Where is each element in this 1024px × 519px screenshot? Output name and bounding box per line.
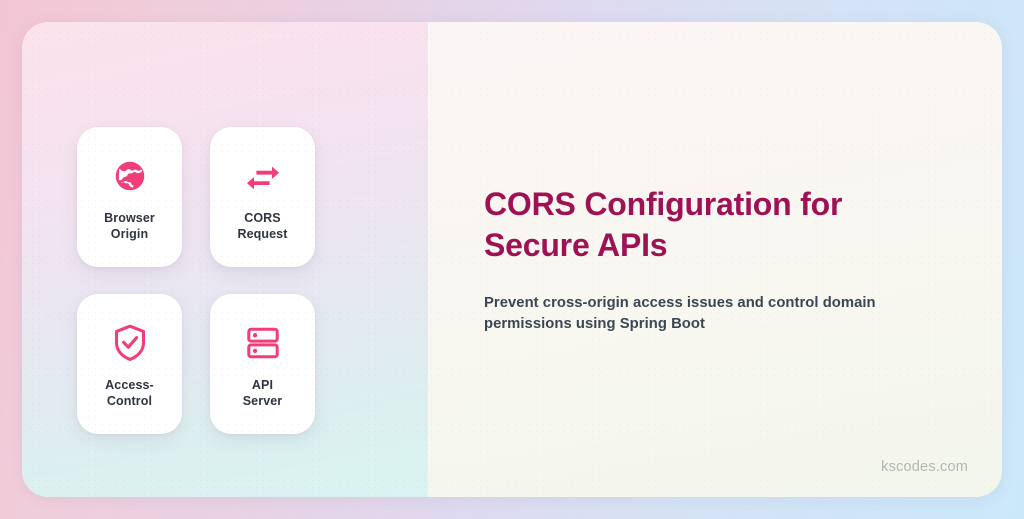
left-panel: Browser Origin CORS Request: [22, 22, 428, 497]
icon-card-label: API Server: [243, 377, 283, 410]
icon-card-label: CORS Request: [237, 210, 287, 243]
icon-card-browser-origin[interactable]: Browser Origin: [77, 127, 182, 267]
slide-frame: Browser Origin CORS Request: [0, 0, 1024, 519]
page-title: CORS Configuration for Secure APIs: [484, 184, 946, 265]
server-icon: [243, 323, 283, 363]
content-card: Browser Origin CORS Request: [22, 22, 1002, 497]
globe-icon: [110, 156, 150, 196]
icon-card-cors-request[interactable]: CORS Request: [210, 127, 315, 267]
shield-check-icon: [110, 323, 150, 363]
right-panel: CORS Configuration for Secure APIs Preve…: [428, 22, 1002, 497]
icon-card-label: Browser Origin: [104, 210, 155, 243]
icon-card-grid: Browser Origin CORS Request: [77, 127, 315, 434]
page-subtitle: Prevent cross-origin access issues and c…: [484, 293, 936, 335]
exchange-arrows-icon: [243, 156, 283, 196]
icon-card-label: Access- Control: [105, 377, 154, 410]
watermark-label: kscodes.com: [881, 459, 968, 475]
icon-card-api-server[interactable]: API Server: [210, 294, 315, 434]
icon-card-access-control[interactable]: Access- Control: [77, 294, 182, 434]
